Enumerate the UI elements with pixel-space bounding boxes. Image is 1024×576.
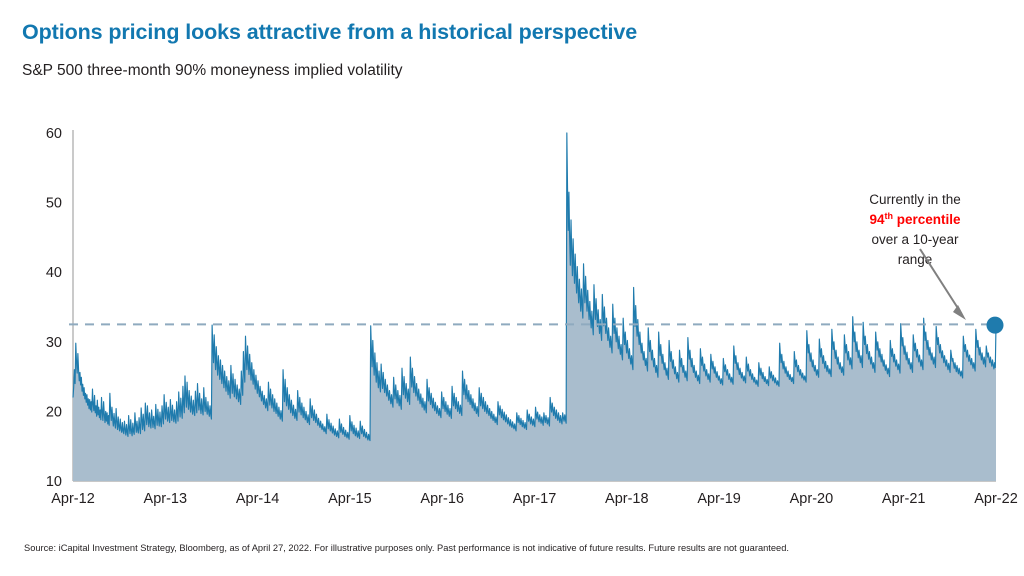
source-note: Source: iCapital Investment Strategy, Bl… (24, 543, 789, 553)
x-tick-label: Apr-19 (697, 491, 741, 507)
x-tick-label: Apr-21 (882, 491, 926, 507)
y-tick-label: 30 (46, 335, 62, 351)
x-tick-label: Apr-15 (328, 491, 372, 507)
x-tick-label: Apr-22 (974, 491, 1018, 507)
x-axis-tick-labels: Apr-12Apr-13Apr-14Apr-15Apr-16Apr-17Apr-… (51, 491, 1018, 507)
volatility-area-chart: 102030405060 Apr-12Apr-13Apr-14Apr-15Apr… (0, 0, 1024, 576)
y-tick-label: 40 (46, 265, 62, 281)
callout-arrow (920, 249, 966, 320)
annotation-callout: Currently in the 94th percentile over a … (869, 192, 966, 320)
y-axis-tick-labels: 102030405060 (46, 126, 62, 490)
x-tick-label: Apr-18 (605, 491, 649, 507)
x-tick-label: Apr-12 (51, 491, 95, 507)
annotation-line-3: over a 10-year (871, 232, 959, 247)
y-tick-label: 50 (46, 196, 62, 212)
annotation-line-2: 94th percentile (869, 211, 961, 227)
y-tick-label: 60 (46, 126, 62, 142)
annotation-line-1: Currently in the (869, 192, 961, 207)
x-tick-label: Apr-13 (144, 491, 188, 507)
y-tick-label: 10 (46, 474, 62, 490)
y-tick-label: 20 (46, 404, 62, 420)
chart-area: 102030405060 Apr-12Apr-13Apr-14Apr-15Apr… (0, 0, 1024, 576)
x-tick-label: Apr-17 (513, 491, 557, 507)
series-area-fill (73, 133, 996, 481)
x-tick-label: Apr-14 (236, 491, 280, 507)
endpoint-marker (987, 317, 1004, 334)
x-tick-label: Apr-16 (420, 491, 464, 507)
x-tick-label: Apr-20 (790, 491, 834, 507)
